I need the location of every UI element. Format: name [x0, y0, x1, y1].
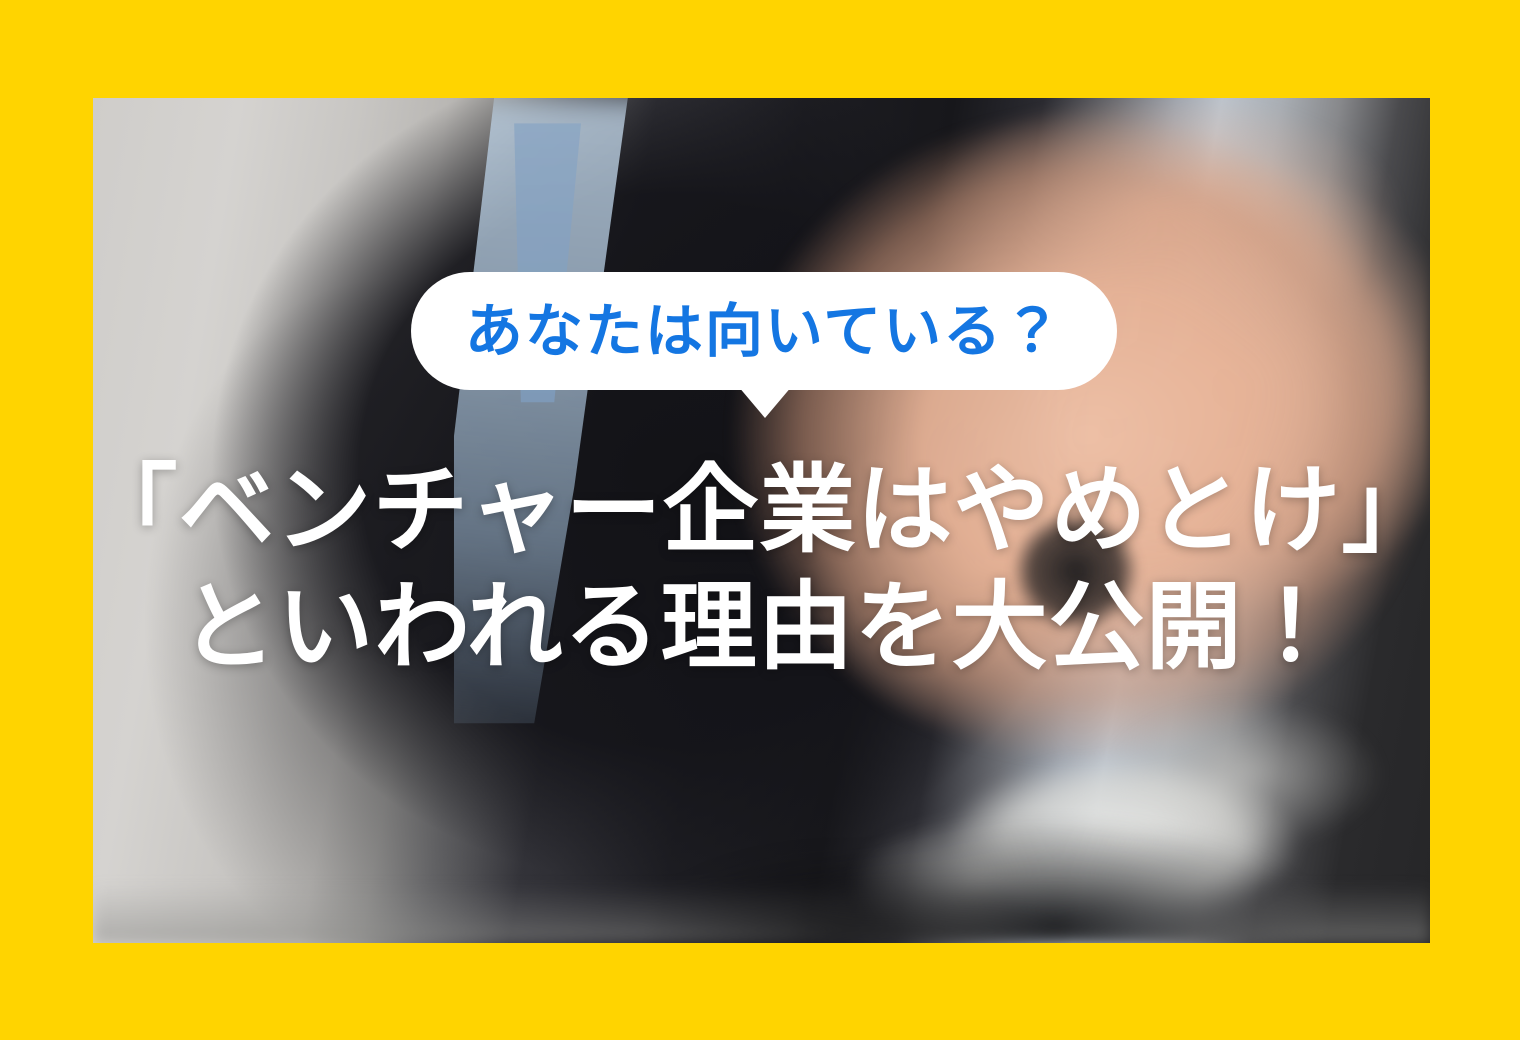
headline: 「ベンチャー企業はやめとけ」 といわれる理由を大公開！	[0, 452, 1520, 686]
speech-bubble-text: あなたは向いている？	[465, 302, 1063, 360]
speech-bubble-tail-icon	[738, 386, 792, 418]
headline-line-1: 「ベンチャー企業はやめとけ」	[0, 452, 1520, 569]
speech-bubble: あなたは向いている？	[411, 272, 1117, 390]
thumbnail-canvas: あなたは向いている？ 「ベンチャー企業はやめとけ」 といわれる理由を大公開！	[0, 0, 1520, 1040]
headline-line-2: といわれる理由を大公開！	[0, 569, 1520, 686]
